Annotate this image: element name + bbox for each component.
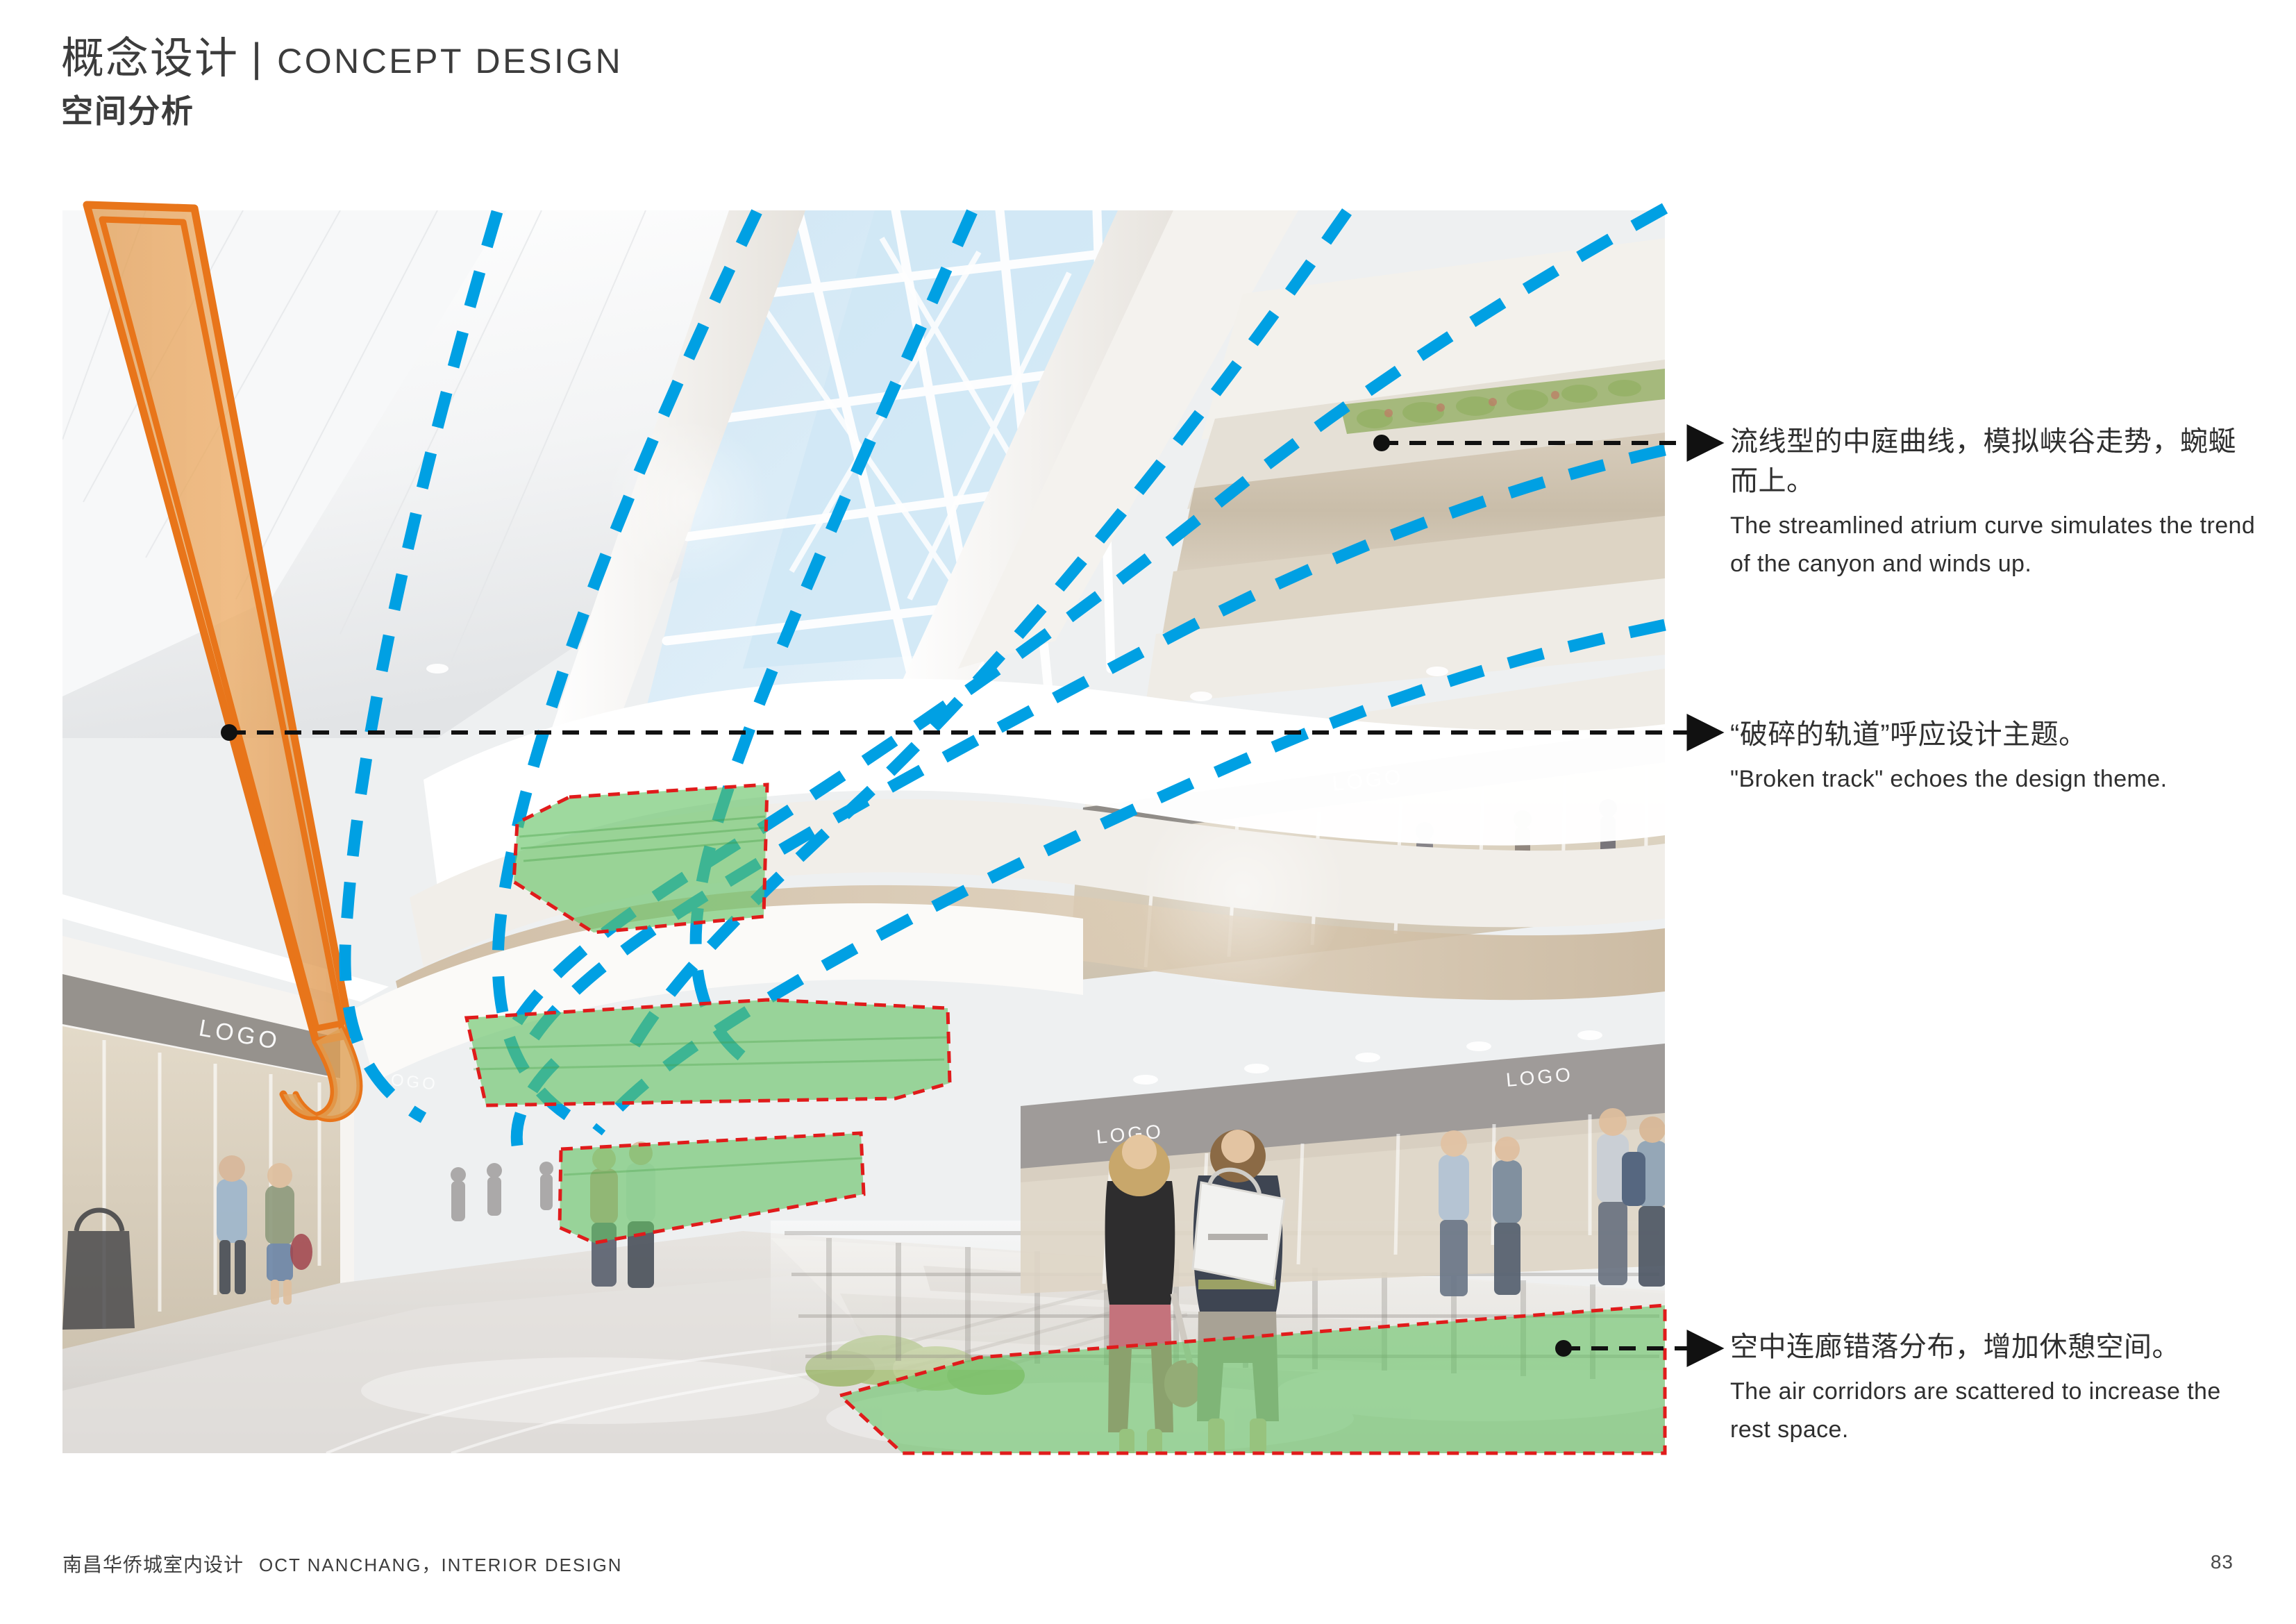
slide-header: 概念设计 | CONCEPT DESIGN 空间分析 bbox=[61, 36, 1033, 129]
footer: 南昌华侨城室内设计 OCT NANCHANG，INTERIOR DESIGN bbox=[62, 1550, 623, 1577]
title-separator: | bbox=[251, 35, 262, 81]
annotation-block-1: 流线型的中庭曲线，模拟峡谷走势，蜿蜒而上。 The streamlined at… bbox=[1730, 422, 2258, 583]
atrium-render-image: LOGO LOGO LOGO bbox=[62, 210, 1665, 1453]
annotation-3-cn: 空中连廊错落分布，增加休憩空间。 bbox=[1730, 1328, 2258, 1367]
page-number: 83 bbox=[2211, 1551, 2234, 1573]
annotation-3-en: The air corridors are scattered to incre… bbox=[1730, 1373, 2258, 1449]
page-title-en: CONCEPT DESIGN bbox=[277, 41, 623, 81]
annotation-1-en: The streamlined atrium curve simulates t… bbox=[1730, 507, 2258, 583]
mall-interior-illustration: LOGO LOGO LOGO bbox=[62, 210, 1665, 1453]
annotation-2-en: "Broken track" echoes the design theme. bbox=[1730, 760, 2258, 798]
annotation-2-cn: “破碎的轨道”呼应设计主题。 bbox=[1730, 715, 2258, 755]
annotation-block-2: “破碎的轨道”呼应设计主题。 "Broken track" echoes the… bbox=[1730, 715, 2258, 798]
page-subtitle: 空间分析 bbox=[61, 94, 1033, 129]
footer-project-en: OCT NANCHANG，INTERIOR DESIGN bbox=[259, 1551, 623, 1577]
footer-project-cn: 南昌华侨城室内设计 bbox=[62, 1550, 244, 1577]
page-title-cn: 概念设计 bbox=[61, 36, 239, 81]
annotation-1-cn: 流线型的中庭曲线，模拟峡谷走势，蜿蜒而上。 bbox=[1730, 422, 2258, 501]
annotation-block-3: 空中连廊错落分布，增加休憩空间。 The air corridors are s… bbox=[1730, 1328, 2258, 1449]
page-title: 概念设计 | CONCEPT DESIGN bbox=[61, 36, 1033, 83]
